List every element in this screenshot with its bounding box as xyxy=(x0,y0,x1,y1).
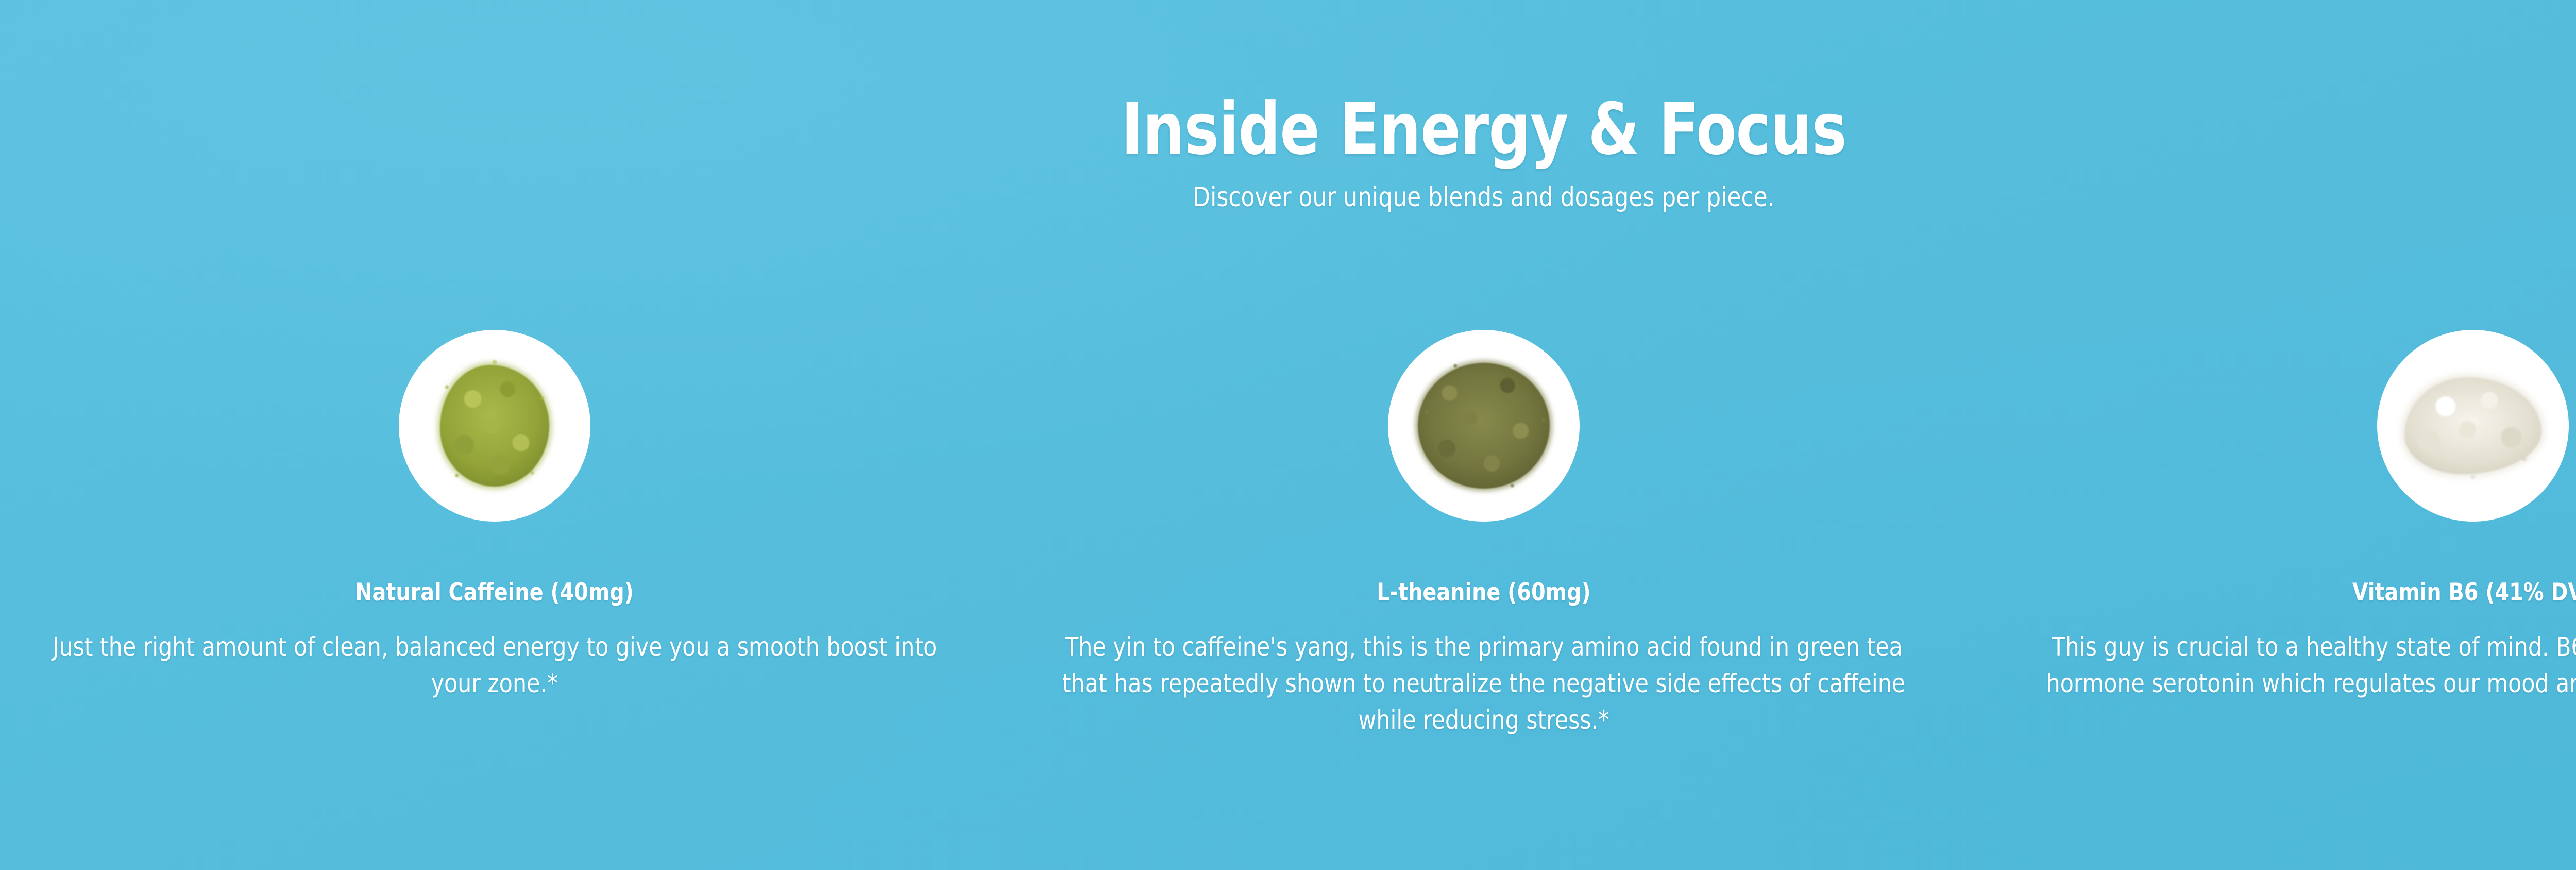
ingredient-description: This guy is crucial to a healthy state o… xyxy=(2030,607,2576,702)
section-header: Inside Energy & Focus Discover our uniqu… xyxy=(0,0,2576,213)
inside-energy-and-focus-section: Inside Energy & Focus Discover our uniqu… xyxy=(0,0,2576,870)
matcha-powder-icon xyxy=(399,330,590,522)
ingredient-description: The yin to caffeine's yang, this is the … xyxy=(1041,607,1927,739)
vitamin-b6-powder-icon xyxy=(2377,330,2569,522)
ingredient-card-l-theanine: L-theanine (60mg) The yin to caffeine's … xyxy=(989,330,1978,739)
page-title: Inside Energy & Focus xyxy=(118,0,2576,165)
ingredient-grid: Natural Caffeine (40mg) Just the right a… xyxy=(0,330,2576,739)
ingredient-name: L-theanine (60mg) xyxy=(1377,522,1590,607)
ingredient-card-vitamin-b6: Vitamin B6 (41% DV) This guy is crucial … xyxy=(1978,330,2576,702)
matcha-powder-pile xyxy=(440,365,549,487)
ingredient-name: Natural Caffeine (40mg) xyxy=(355,522,634,607)
ingredient-card-natural-caffeine: Natural Caffeine (40mg) Just the right a… xyxy=(0,330,989,702)
ingredient-name: Vitamin B6 (41% DV) xyxy=(2352,522,2576,607)
ingredient-description: Just the right amount of clean, balanced… xyxy=(52,607,938,702)
vitamin-b6-powder-pile xyxy=(2404,377,2541,474)
page-subtitle: Discover our unique blends and dosages p… xyxy=(89,165,2576,213)
green-tea-leaves-icon xyxy=(1388,330,1580,522)
green-tea-leaves-pile xyxy=(1418,363,1550,489)
